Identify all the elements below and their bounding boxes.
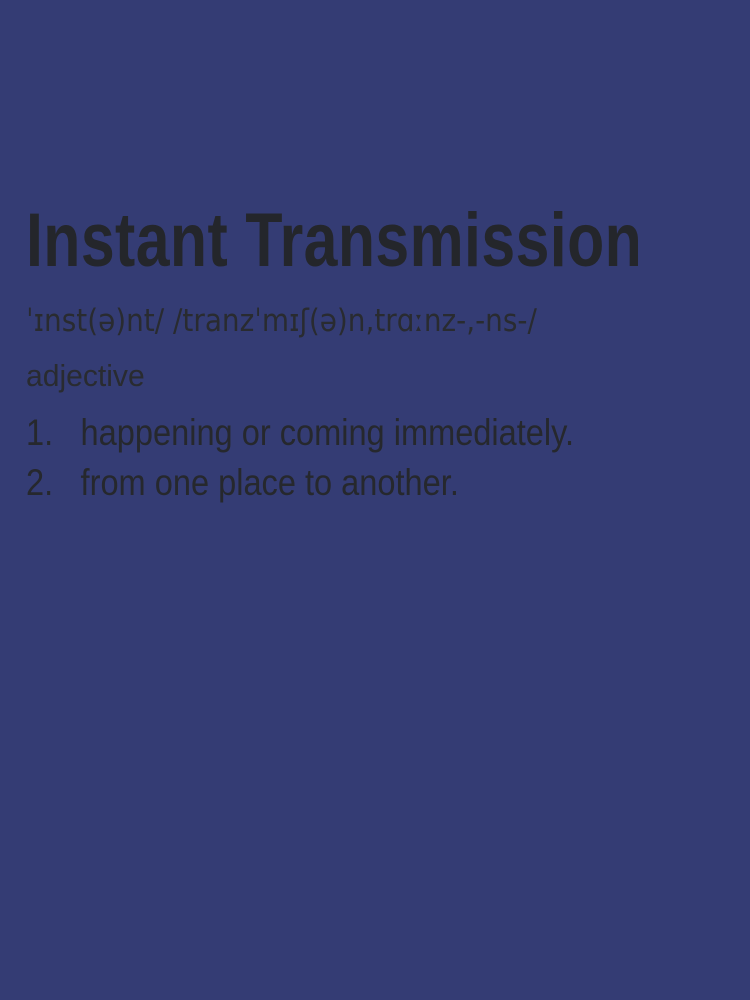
list-item: 1.happening or coming immediately. <box>26 408 660 458</box>
list-item: 2.from one place to another. <box>26 458 660 508</box>
page-title: Instant Transmission <box>26 202 642 280</box>
phonetic-transcription: ˈɪnst(ə)nt/ /tranzˈmɪʃ(ə)n,trɑːnz-,-ns-/ <box>26 304 537 339</box>
sense-number: 1. <box>26 408 81 458</box>
sense-number: 2. <box>26 458 81 508</box>
sense-text: from one place to another. <box>81 462 459 503</box>
definition-sense-list: 1.happening or coming immediately. 2.fro… <box>26 408 746 508</box>
sense-text: happening or coming immediately. <box>81 412 574 453</box>
part-of-speech-label: adjective <box>26 359 145 394</box>
definition-poster: Instant Transmission ˈɪnst(ə)nt/ /tranzˈ… <box>0 0 750 1000</box>
